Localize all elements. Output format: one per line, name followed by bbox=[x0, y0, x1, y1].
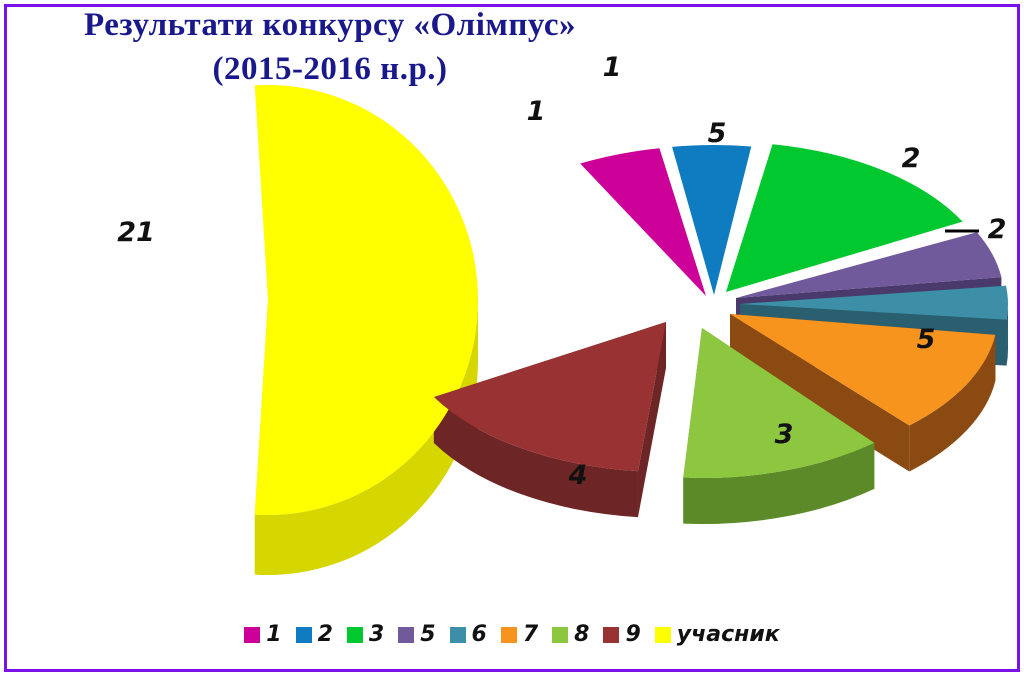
legend-swatch bbox=[603, 627, 619, 643]
legend-label: учасник bbox=[677, 624, 780, 646]
legend-item[interactable]: 8 bbox=[552, 624, 589, 646]
slice-value-label: 5 bbox=[708, 118, 727, 149]
legend-label: 5 bbox=[420, 624, 435, 646]
legend-swatch bbox=[347, 627, 363, 643]
legend-item[interactable]: 2 bbox=[296, 624, 333, 646]
chart-legend: 12356789учасник bbox=[0, 624, 1024, 646]
legend-item[interactable]: 6 bbox=[450, 624, 487, 646]
legend-item[interactable]: 7 bbox=[501, 624, 538, 646]
legend-label: 2 bbox=[318, 624, 333, 646]
slice-value-label: 5 bbox=[917, 324, 936, 355]
slice-value-label: 3 bbox=[775, 419, 794, 450]
legend-item[interactable]: 5 bbox=[398, 624, 435, 646]
slice-value-label: 1 bbox=[527, 96, 546, 127]
legend-label: 6 bbox=[472, 624, 487, 646]
legend-item[interactable]: учасник bbox=[655, 624, 780, 646]
legend-item[interactable]: 9 bbox=[603, 624, 640, 646]
legend-swatch bbox=[655, 627, 671, 643]
legend-label: 9 bbox=[625, 624, 640, 646]
presentation-slide: Результати конкурсу «Олімпус» (2015-2016… bbox=[0, 0, 1024, 676]
legend-swatch bbox=[244, 627, 260, 643]
legend-swatch bbox=[552, 627, 568, 643]
legend-label: 8 bbox=[574, 624, 589, 646]
legend-label: 7 bbox=[523, 624, 538, 646]
slice-value-label: 2 bbox=[902, 143, 921, 174]
slice-value-label: 21 bbox=[117, 217, 155, 248]
slice-value-label: 1 bbox=[603, 52, 622, 83]
legend-label: 3 bbox=[369, 624, 384, 646]
legend-swatch bbox=[501, 627, 517, 643]
legend-swatch bbox=[450, 627, 466, 643]
slice-value-label: 4 bbox=[568, 460, 588, 491]
legend-label: 1 bbox=[266, 624, 281, 646]
legend-item[interactable]: 1 bbox=[244, 624, 281, 646]
legend-swatch bbox=[398, 627, 414, 643]
slice-value-label: 2 bbox=[988, 214, 1007, 245]
legend-item[interactable]: 3 bbox=[347, 624, 384, 646]
legend-swatch bbox=[296, 627, 312, 643]
pie-chart-3d: 1152253421 bbox=[0, 0, 1024, 676]
